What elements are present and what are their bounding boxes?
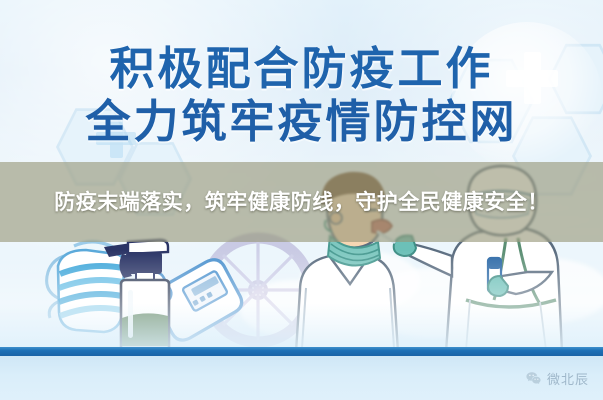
poster-headline: 积极配合防疫工作 全力筑牢疫情防控网 <box>0 46 603 144</box>
watermark: 微北辰 <box>525 369 589 388</box>
poster-headline-line-2: 全力筑牢疫情防控网 <box>0 99 603 144</box>
caption-text: 防疫末端落实，筑牢健康防线，守护全民健康安全！ <box>42 186 562 219</box>
poster-image: 积极配合防疫工作 全力筑牢疫情防控网 <box>0 0 603 400</box>
watermark-account-label: 微北辰 <box>547 369 589 388</box>
poster-headline-line-1: 积极配合防疫工作 <box>0 46 603 91</box>
wechat-icon <box>525 370 542 387</box>
caption-overlay-band: 防疫末端落实，筑牢健康防线，守护全民健康安全！ <box>0 162 603 242</box>
